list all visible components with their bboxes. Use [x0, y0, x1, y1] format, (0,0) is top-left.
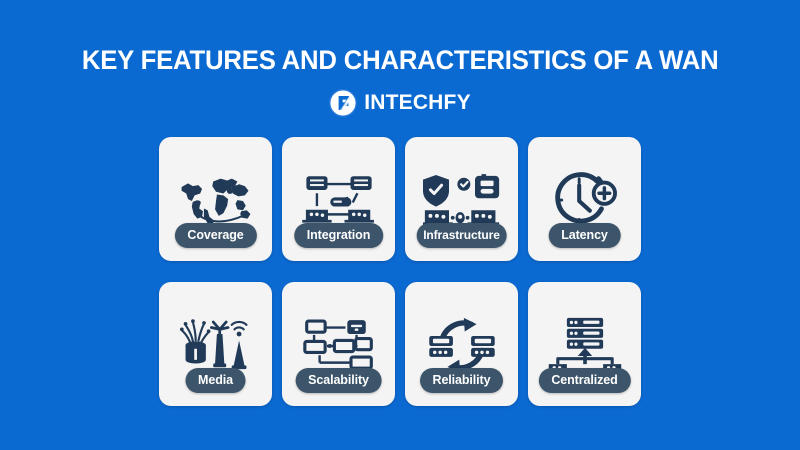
card-label-scalability: Scalability [295, 368, 382, 394]
brand-lockup: INTECHFY [329, 89, 471, 117]
feature-card-centralized[interactable]: Centralized [528, 282, 641, 406]
card-label-reliability: Reliability [420, 368, 504, 394]
feature-card-coverage[interactable]: Coverage [159, 137, 272, 261]
feature-card-media[interactable]: Media [159, 282, 272, 406]
circle-f-monogram-logo-icon [329, 89, 357, 117]
feature-card-scalability[interactable]: Scalability [282, 282, 395, 406]
feature-card-latency[interactable]: Latency [528, 137, 641, 261]
card-label-coverage: Coverage [174, 223, 256, 249]
page-title: KEY FEATURES AND CHARACTERISTICS OF A WA… [82, 45, 719, 76]
card-label-integration: Integration [294, 223, 383, 249]
feature-card-grid: Coverage [159, 137, 641, 406]
card-label-media: Media [185, 368, 246, 394]
card-label-latency: Latency [548, 223, 621, 249]
card-label-centralized: Centralized [538, 368, 630, 394]
feature-card-reliability[interactable]: Reliability [405, 282, 518, 406]
infographic-poster: KEY FEATURES AND CHARACTERISTICS OF A WA… [0, 0, 800, 450]
brand-name: INTECHFY [364, 91, 471, 115]
feature-card-infrastructure[interactable]: Infrastructure [405, 137, 518, 261]
feature-card-integration[interactable]: Integration [282, 137, 395, 261]
card-label-infrastructure: Infrastructure [416, 223, 507, 248]
